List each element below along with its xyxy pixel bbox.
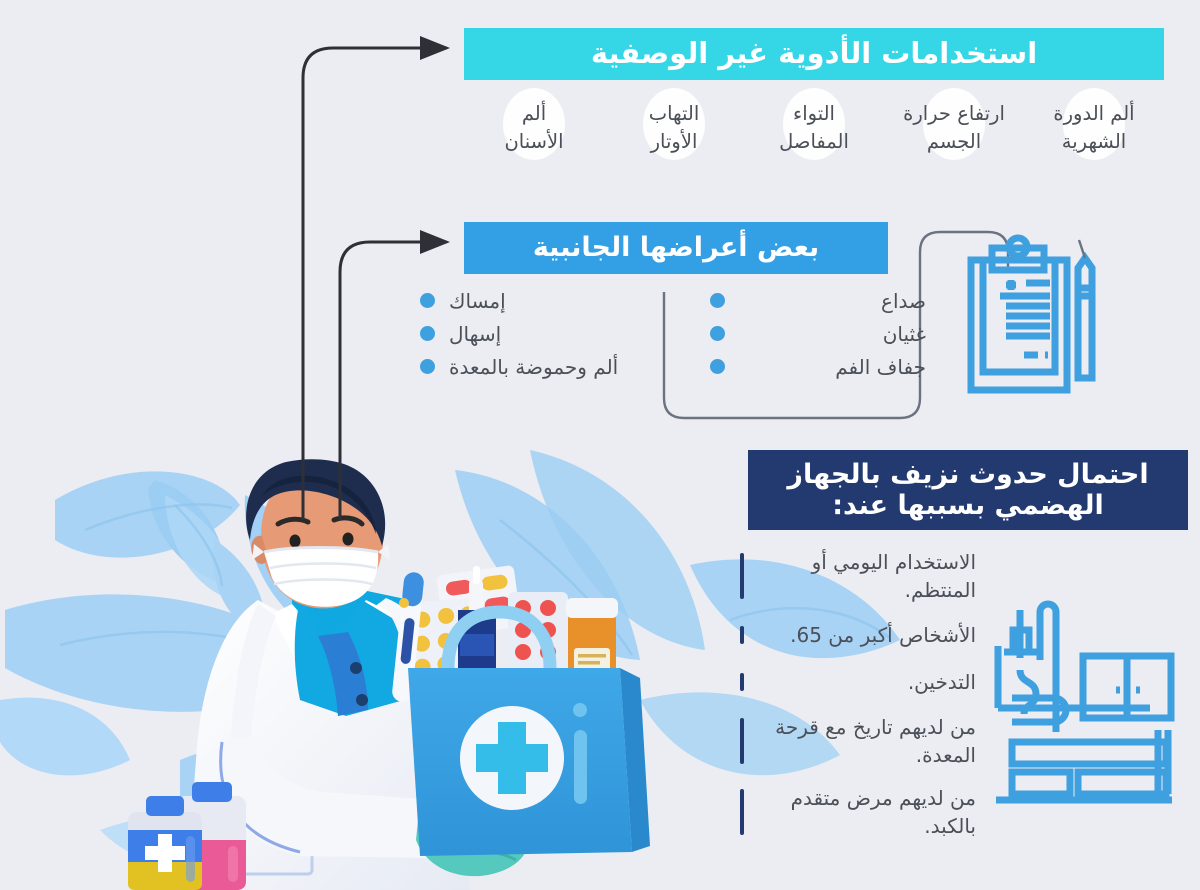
side-effect-item: جفاف الفم bbox=[710, 350, 940, 383]
risk-item-label: من لديهم تاريخ مع قرحة المعدة. bbox=[744, 713, 976, 769]
risk-item: من لديهم تاريخ مع قرحة المعدة. bbox=[726, 713, 976, 769]
side-effect-item: صداع bbox=[710, 284, 940, 317]
usage-item: ألم الأسنان bbox=[464, 92, 604, 176]
usage-item: التهاب الأوتار bbox=[604, 92, 744, 176]
risk-bullet-bar bbox=[740, 789, 744, 835]
risk-item: التدخين. bbox=[726, 666, 976, 698]
usage-item: ألم الدورة الشهرية bbox=[1024, 92, 1164, 176]
risk-item: الأشخاص أكبر من 65. bbox=[726, 619, 976, 651]
side-effect-item: إمساك bbox=[420, 284, 650, 317]
bullet-dot-icon bbox=[710, 293, 725, 308]
infographic-canvas: استخدامات الأدوية غير الوصفية بعض أعراضه… bbox=[0, 0, 1200, 890]
risk-item-label: التدخين. bbox=[744, 668, 976, 696]
side-effects-section-header: بعض أعراضها الجانبية bbox=[464, 222, 888, 274]
usage-item: ارتفاع حرارة الجسم bbox=[884, 92, 1024, 176]
risk-bullet-bar bbox=[740, 553, 744, 599]
risk-item-label: الأشخاص أكبر من 65. bbox=[744, 621, 976, 649]
side-effect-item: ألم وحموضة بالمعدة bbox=[420, 350, 650, 383]
side-effects-lists: صداع غثيان جفاف الفم إمساك إسهال أل bbox=[420, 284, 940, 424]
usage-item-label: التهاب الأوتار bbox=[649, 92, 700, 157]
risk-item: الاستخدام اليومي أو المنتظم. bbox=[726, 548, 976, 604]
side-effect-item: غثيان bbox=[710, 317, 940, 350]
bullet-dot-icon bbox=[710, 359, 725, 374]
side-effect-label: صداع bbox=[725, 289, 940, 313]
usage-item: التواء المفاصل bbox=[744, 92, 884, 176]
usage-section-header: استخدامات الأدوية غير الوصفية bbox=[464, 28, 1164, 80]
bullet-dot-icon bbox=[420, 359, 435, 374]
bullet-dot-icon bbox=[420, 293, 435, 308]
side-effect-label: جفاف الفم bbox=[725, 355, 940, 379]
risk-item: من لديهم مرض متقدم بالكبد. bbox=[726, 784, 976, 840]
risk-item-label: من لديهم مرض متقدم بالكبد. bbox=[744, 784, 976, 840]
usage-items-row: ألم الأسنان التهاب الأوتار التواء المفاص… bbox=[464, 92, 1164, 176]
side-effect-label: إمساك bbox=[435, 289, 650, 313]
side-effect-label: إسهال bbox=[435, 322, 650, 346]
side-effect-label: ألم وحموضة بالمعدة bbox=[435, 355, 650, 379]
risk-bullet-bar bbox=[740, 718, 744, 764]
usage-item-label: التواء المفاصل bbox=[779, 92, 849, 157]
risk-item-label: الاستخدام اليومي أو المنتظم. bbox=[744, 548, 976, 604]
risk-factor-list: الاستخدام اليومي أو المنتظم. الأشخاص أكب… bbox=[726, 548, 976, 855]
side-effect-label: غثيان bbox=[725, 322, 940, 346]
risk-section-header: احتمال حدوث نزيف بالجهاز الهضمي بسببها ع… bbox=[748, 450, 1188, 530]
risk-bullet-bar bbox=[740, 626, 744, 644]
side-effects-right-column: صداع غثيان جفاف الفم bbox=[710, 284, 940, 383]
side-effects-left-column: إمساك إسهال ألم وحموضة بالمعدة bbox=[420, 284, 650, 383]
usage-item-label: ألم الأسنان bbox=[504, 92, 563, 157]
bullet-dot-icon bbox=[420, 326, 435, 341]
bullet-dot-icon bbox=[710, 326, 725, 341]
usage-item-label: ألم الدورة الشهرية bbox=[1053, 92, 1134, 157]
risk-bullet-bar bbox=[740, 673, 744, 691]
side-effect-item: إسهال bbox=[420, 317, 650, 350]
usage-item-label: ارتفاع حرارة الجسم bbox=[903, 92, 1005, 157]
